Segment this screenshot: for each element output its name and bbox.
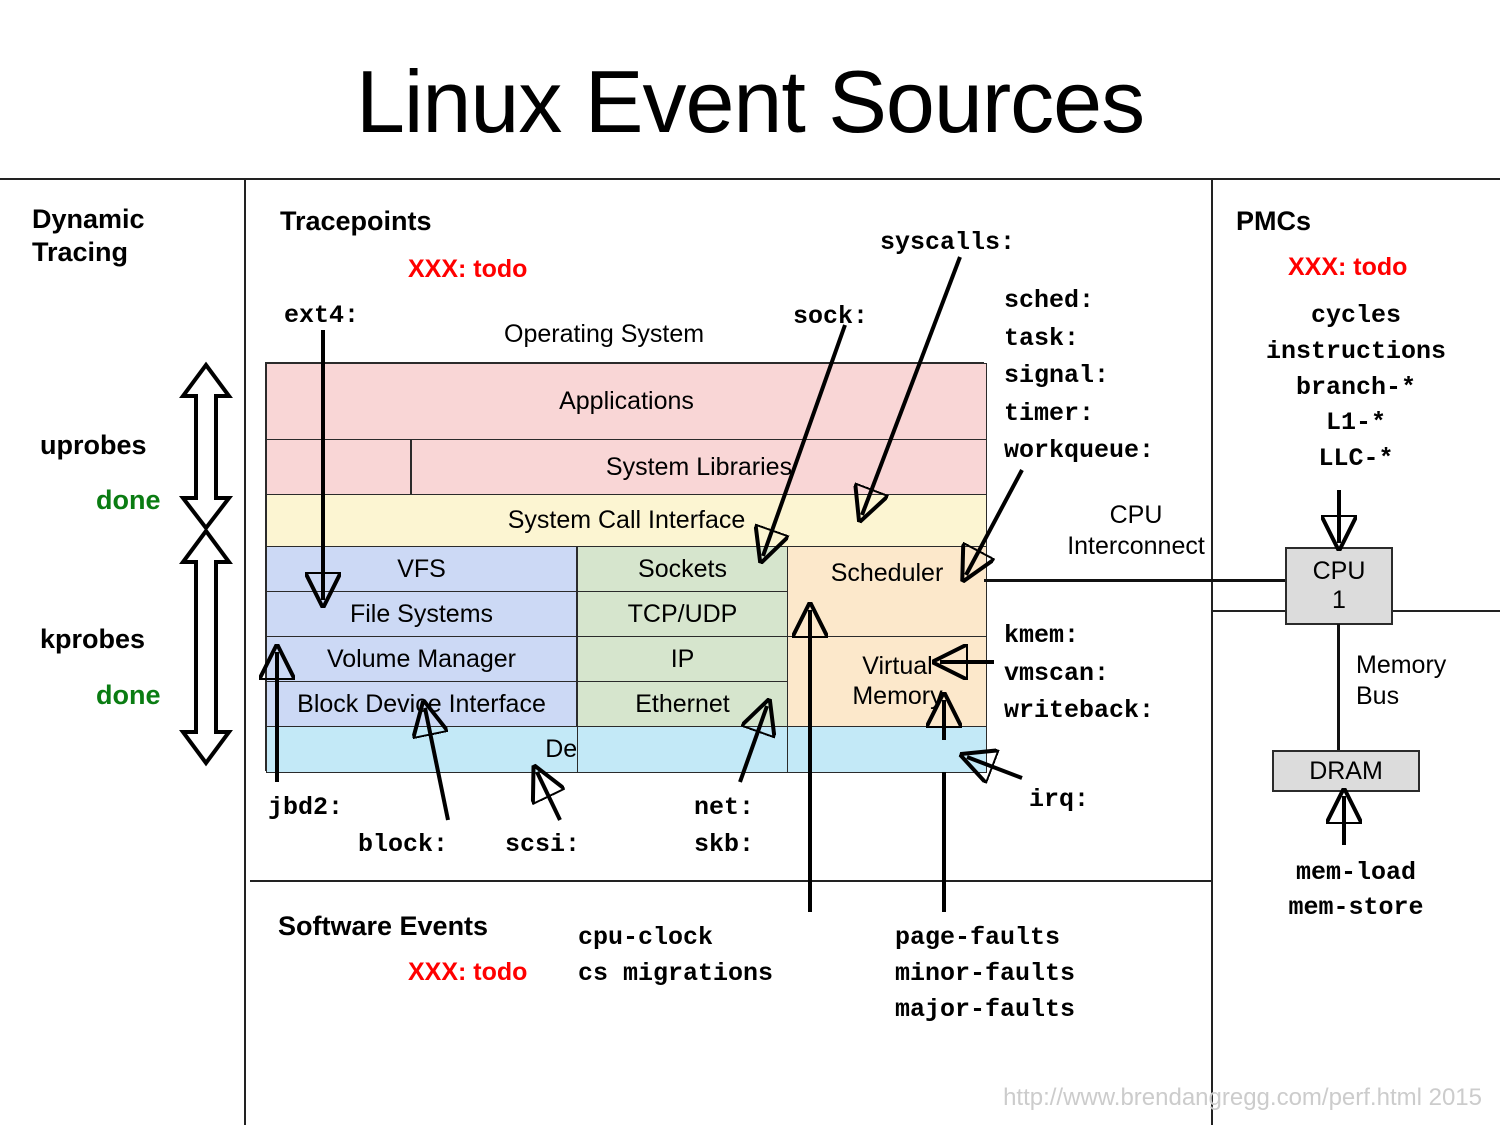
footer-url: http://www.brendangregg.com/perf.html 20…: [1003, 1084, 1482, 1112]
arrow-scheduler-group: [966, 470, 1022, 575]
arrow-block: [425, 708, 448, 820]
arrow-syscalls: [862, 257, 960, 515]
uprobes-range-arrow: [183, 365, 229, 528]
kprobes-range-arrow: [183, 531, 229, 763]
arrow-scsi: [537, 772, 560, 820]
arrow-sock: [763, 325, 845, 556]
diagram-arrows: [0, 0, 1500, 1125]
arrow-net: [740, 706, 767, 782]
arrow-irq: [967, 757, 1022, 778]
